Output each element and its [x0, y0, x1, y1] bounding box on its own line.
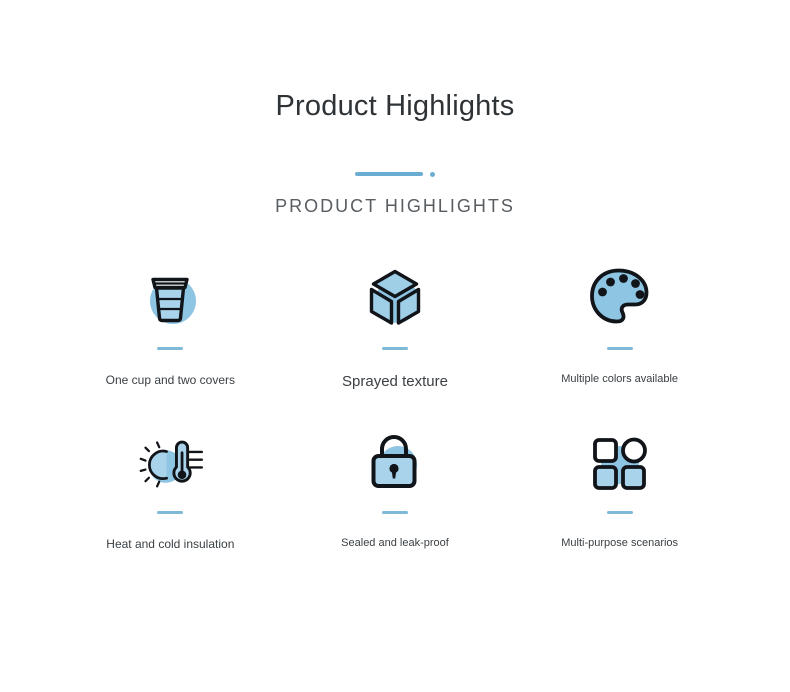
paint-palette-icon: [583, 261, 657, 335]
section-divider: [0, 169, 790, 179]
product-highlights-page: Product Highlights PRODUCT HIGHLIGHTS: [0, 0, 790, 692]
feature-label: Sprayed texture: [342, 373, 448, 391]
page-title: Product Highlights: [0, 92, 790, 121]
divider-dot-icon: [430, 172, 435, 177]
feature-item-one-cup-and-two-covers: One cup and two covers: [58, 261, 283, 391]
feature-label: Heat and cold insulation: [106, 537, 234, 551]
feature-rule: [157, 511, 183, 514]
feature-rule: [382, 511, 408, 514]
feature-label: Multi-purpose scenarios: [561, 537, 678, 550]
padlock-icon: [358, 429, 432, 499]
feature-rule: [607, 347, 633, 350]
feature-label: Sealed and leak-proof: [341, 537, 449, 550]
coffee-cup-with-lid-icon: [133, 261, 207, 335]
isometric-box-icon: [358, 261, 432, 335]
page-subtitle: PRODUCT HIGHLIGHTS: [0, 197, 790, 215]
feature-label: Multiple colors available: [561, 373, 678, 386]
feature-item-multi-purpose-scenarios: Multi-purpose scenarios: [507, 429, 732, 551]
feature-item-multiple-colors-available: Multiple colors available: [507, 261, 732, 391]
thermometer-sun-icon: [133, 429, 207, 499]
divider-line-icon: [355, 172, 423, 176]
feature-rule: [607, 511, 633, 514]
feature-item-sprayed-texture: Sprayed texture: [283, 261, 508, 391]
grid-four-tiles-icon: [583, 429, 657, 499]
page-header: Product Highlights PRODUCT HIGHLIGHTS: [0, 0, 790, 215]
feature-item-sealed-and-leak-proof: Sealed and leak-proof: [283, 429, 508, 551]
feature-rule: [382, 347, 408, 350]
feature-rule: [157, 347, 183, 350]
feature-grid: One cup and two covers Sprayed texture: [0, 261, 790, 551]
feature-label: One cup and two covers: [106, 373, 235, 387]
feature-item-heat-and-cold-insulation: Heat and cold insulation: [58, 429, 283, 551]
